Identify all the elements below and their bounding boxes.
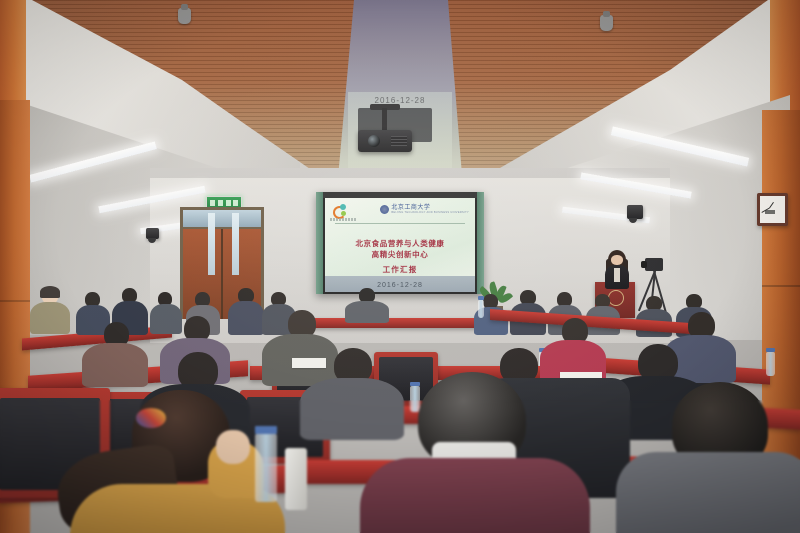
projector-lens	[368, 135, 380, 147]
thermos-cup	[285, 448, 307, 510]
ceiling-projector	[358, 130, 412, 164]
ceiling-spotlight-2	[600, 15, 613, 31]
slide-subtitle: 工作汇报	[325, 264, 475, 275]
university-name-en: BEIJING TECHNOLOGY AND BUSINESS UNIVERSI…	[391, 211, 469, 214]
center-logo-wordmark	[330, 218, 356, 221]
door-transom-glass	[183, 210, 261, 227]
foreground-man-maroon-sweater	[360, 372, 590, 533]
audience-person-b5	[82, 322, 148, 384]
university-logo: 北京工商大学 BEIJING TECHNOLOGY AND BUSINESS U…	[380, 205, 469, 214]
wall-clock	[757, 193, 788, 226]
center-logo-icon	[333, 204, 348, 218]
door-glass-right	[232, 213, 239, 275]
slide-title: 北京食品营养与人类健康 高精尖创新中心	[325, 238, 475, 260]
presenter	[600, 252, 634, 288]
water-bottle-5	[255, 434, 277, 502]
conference-room-photo: 2016-12-28	[0, 0, 800, 533]
presentation-slide: 北京工商大学 BEIJING TECHNOLOGY AND BUSINESS U…	[325, 198, 475, 292]
hair-tie	[136, 408, 166, 428]
audience-person-a2	[30, 288, 70, 334]
water-bottle-1	[478, 300, 484, 318]
ceiling-reflected-date: 2016-12-28	[336, 96, 464, 105]
slide-title-line1: 北京食品营养与人类健康	[325, 238, 475, 249]
university-seal-icon	[380, 205, 389, 214]
foreground-man-grey-jacket	[616, 382, 800, 533]
audience-person-a7	[228, 288, 264, 334]
ceiling-spotlight-1	[178, 8, 191, 24]
audience-person-a1	[345, 288, 389, 322]
water-bottle-3	[766, 352, 775, 376]
hand	[216, 430, 250, 464]
projection-screen: 北京工商大学 BEIJING TECHNOLOGY AND BUSINESS U…	[316, 192, 484, 294]
video-camera	[645, 258, 663, 271]
wall-speaker-left	[146, 228, 159, 239]
slide-title-line2: 高精尖创新中心	[325, 249, 475, 260]
door-glass-left	[208, 213, 215, 275]
foreground-woman-mustard-sweater	[40, 380, 290, 533]
wall-speaker-right	[627, 205, 643, 219]
